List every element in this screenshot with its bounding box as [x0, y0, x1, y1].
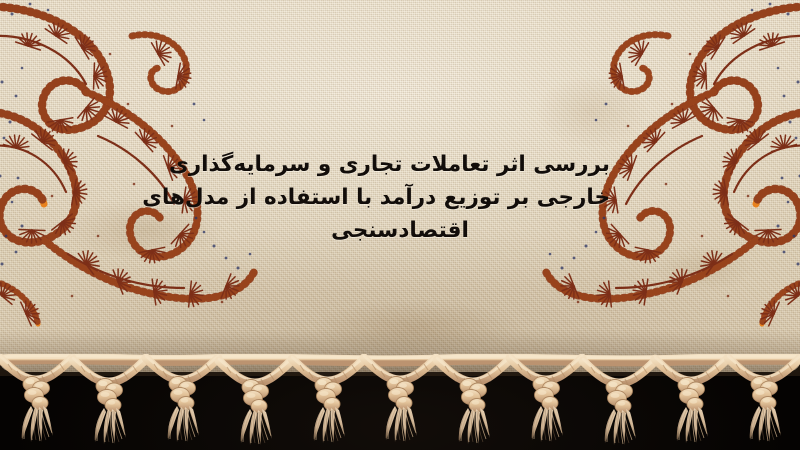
- tassel-fringe-trim: [0, 354, 800, 450]
- title-line-1: بررسی اثر تعاملات تجاری و سرمایه‌گذاری: [190, 148, 610, 181]
- title-slide-canvas: بررسی اثر تعاملات تجاری و سرمایه‌گذاری خ…: [0, 0, 800, 450]
- page-title: بررسی اثر تعاملات تجاری و سرمایه‌گذاری خ…: [190, 148, 610, 247]
- title-line-2: خارجی بر توزیع درآمد با استفاده از مدل‌ه…: [190, 181, 610, 214]
- title-line-3: اقتصادسنجی: [190, 214, 610, 247]
